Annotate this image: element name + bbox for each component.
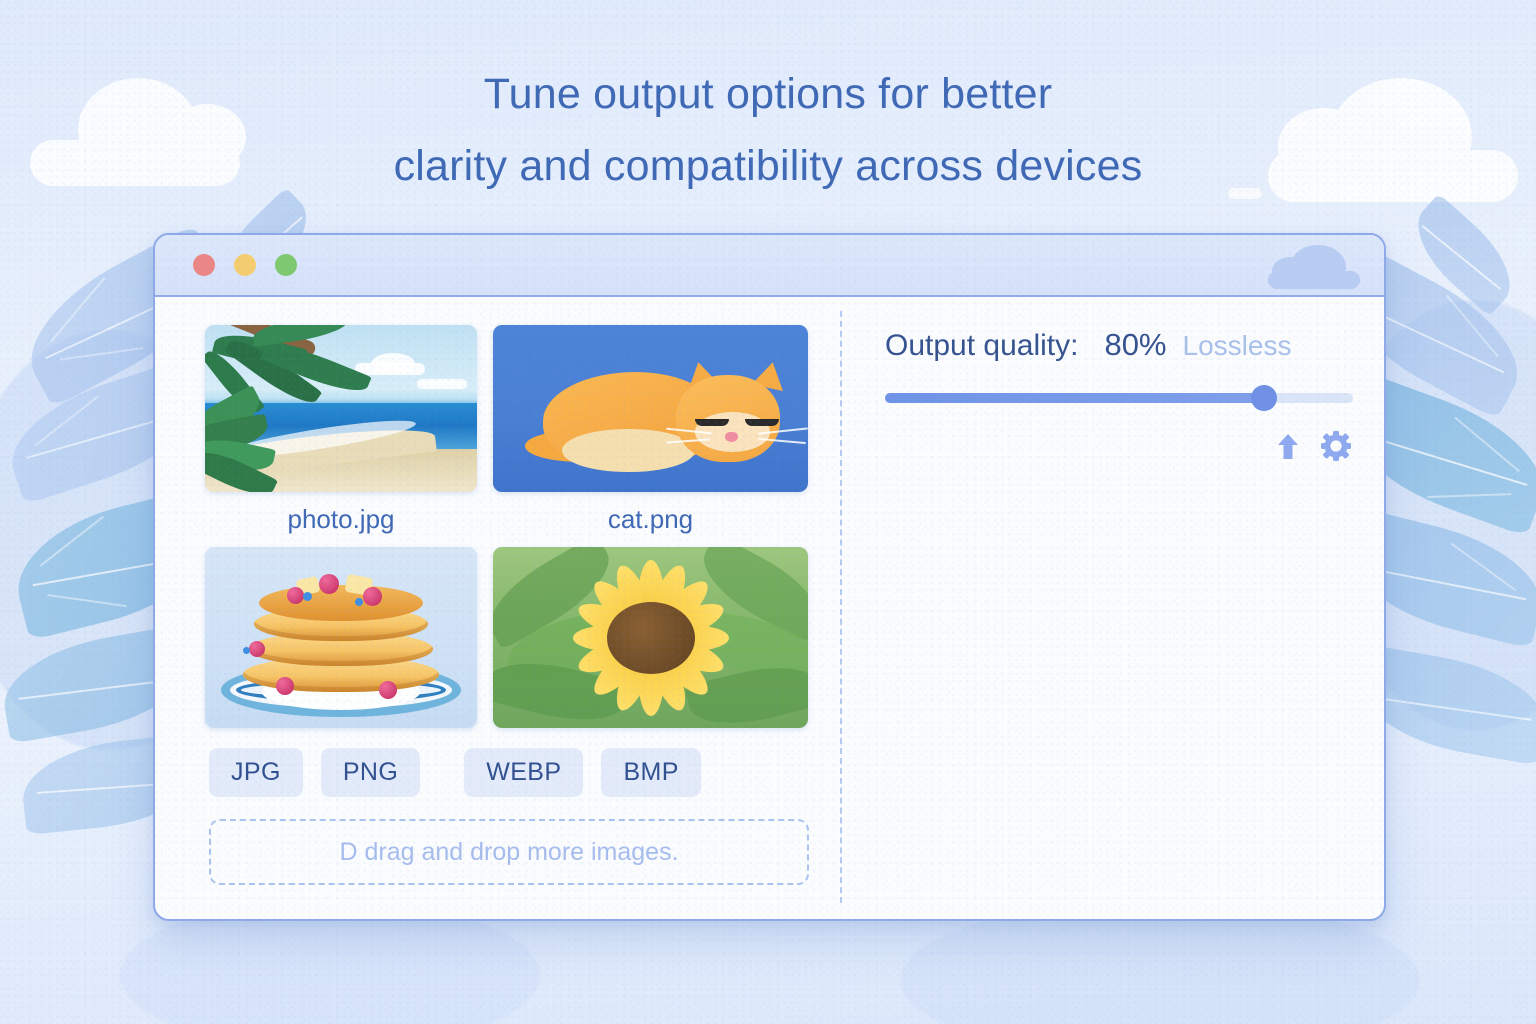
slider-thumb[interactable] bbox=[1251, 385, 1277, 411]
format-chip-jpg[interactable]: JPG bbox=[209, 748, 303, 797]
quality-label: Output quality: bbox=[885, 329, 1078, 363]
file-name: cat.png bbox=[493, 504, 808, 535]
upload-arrow-icon[interactable] bbox=[1271, 429, 1305, 463]
minimize-button[interactable] bbox=[234, 254, 256, 276]
quality-mode-label: Lossless bbox=[1183, 330, 1292, 362]
file-item[interactable]: cat.png bbox=[493, 325, 808, 535]
window-controls bbox=[193, 254, 297, 276]
settings-icon-row bbox=[885, 429, 1353, 463]
quality-slider[interactable] bbox=[885, 393, 1353, 403]
thumbnail-cat[interactable] bbox=[493, 325, 808, 492]
thumbnail-pancakes[interactable] bbox=[205, 547, 477, 728]
slider-fill bbox=[885, 393, 1264, 403]
format-chip-webp[interactable]: WEBP bbox=[464, 748, 583, 797]
window-titlebar bbox=[155, 235, 1384, 297]
headline-line-2: clarity and compatibility across devices bbox=[0, 130, 1536, 202]
headline-line-1: Tune output options for better bbox=[0, 58, 1536, 130]
app-window: photo.jpg bbox=[153, 233, 1386, 921]
gear-icon[interactable] bbox=[1319, 429, 1353, 463]
thumbnail-grid: photo.jpg bbox=[205, 325, 809, 728]
window-body: photo.jpg bbox=[155, 297, 1384, 917]
format-chip-bmp[interactable]: BMP bbox=[601, 748, 700, 797]
file-item[interactable] bbox=[205, 547, 477, 728]
cloud-icon bbox=[1268, 271, 1360, 289]
thumbnail-beach[interactable] bbox=[205, 325, 477, 492]
maximize-button[interactable] bbox=[275, 254, 297, 276]
file-item[interactable] bbox=[493, 547, 808, 728]
file-item[interactable]: photo.jpg bbox=[205, 325, 477, 535]
quality-value: 80% bbox=[1104, 327, 1166, 363]
format-chip-list: JPG PNG WEBP BMP bbox=[209, 748, 809, 797]
settings-panel: Output quality: 80% Lossless bbox=[839, 297, 1386, 917]
close-button[interactable] bbox=[193, 254, 215, 276]
app-screenshot: Tune output options for better clarity a… bbox=[0, 0, 1536, 1024]
file-name: photo.jpg bbox=[205, 504, 477, 535]
dropzone[interactable]: D drag and drop more images. bbox=[209, 819, 809, 885]
file-list-panel: photo.jpg bbox=[155, 297, 839, 917]
thumbnail-sunflower[interactable] bbox=[493, 547, 808, 728]
format-chip-png[interactable]: PNG bbox=[321, 748, 420, 797]
dropzone-label: D drag and drop more images. bbox=[339, 838, 678, 867]
page-title: Tune output options for better clarity a… bbox=[0, 58, 1536, 202]
quality-row: Output quality: 80% Lossless bbox=[885, 327, 1353, 363]
